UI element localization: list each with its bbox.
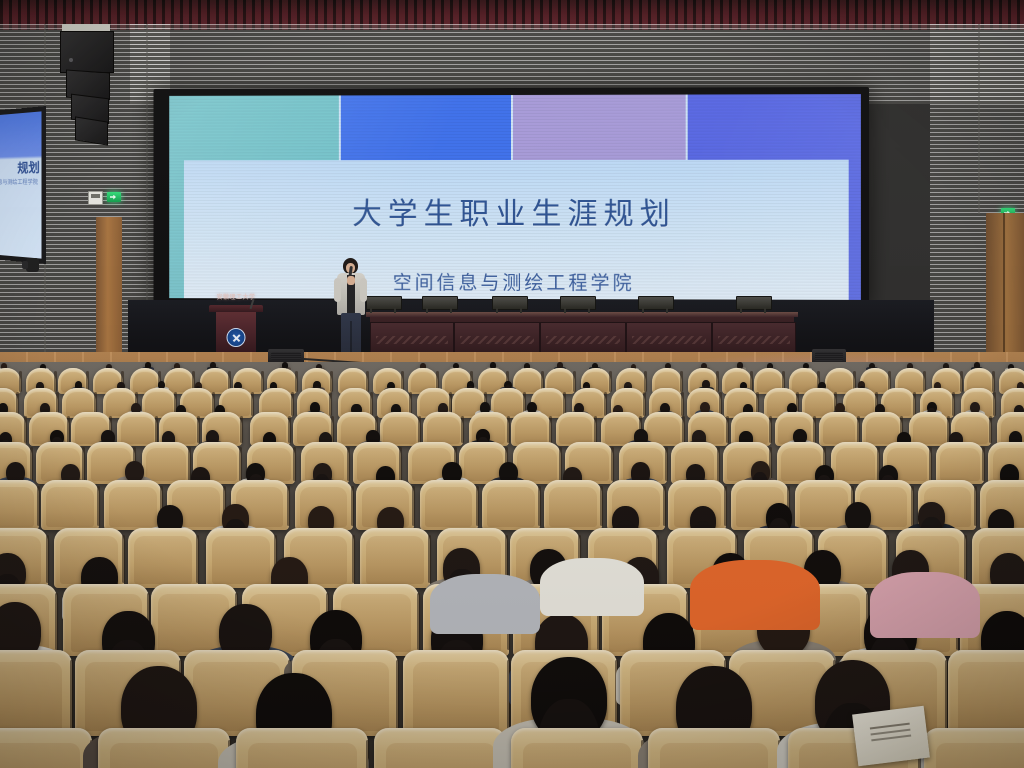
seat-divider [370, 392, 373, 416]
auditorium-seat[interactable] [206, 528, 276, 588]
auditorium-seat[interactable] [403, 650, 509, 736]
auditorium-seat[interactable] [98, 728, 230, 768]
auditorium-seat[interactable] [128, 528, 198, 588]
auditorium-seat[interactable] [909, 412, 949, 446]
side-display-screen: 规划 空间信息与测绘工程学院 [0, 106, 46, 264]
main-projection-screen: 大学生职业生涯规划 空间信息与测绘工程学院 2023年11月 [154, 87, 870, 307]
seat-divider [989, 416, 992, 443]
seat-divider [366, 371, 369, 392]
podium-top [209, 305, 263, 312]
seat-divider [97, 486, 100, 526]
auditorium-seat[interactable] [511, 412, 551, 446]
auditorium-seat[interactable] [511, 728, 643, 768]
seat-divider [663, 486, 666, 526]
seat-divider [600, 486, 603, 526]
table-panel [712, 322, 796, 356]
podium-name-plate: 安徽理工大学 [207, 292, 265, 304]
seat-divider [329, 392, 332, 416]
seat-divider [351, 486, 354, 526]
seat-divider [82, 447, 85, 481]
seat-divider [24, 416, 27, 443]
auditorium-seat[interactable] [41, 480, 99, 530]
seat-divider [197, 416, 200, 443]
exit-sign-icon [107, 192, 121, 202]
auditorium-seat[interactable] [0, 650, 72, 736]
seat-divider [240, 416, 243, 443]
seat-divider [929, 447, 932, 481]
projected-slide: 大学生职业生涯规划 空间信息与测绘工程学院 2023年11月 [169, 94, 861, 300]
seat-divider [476, 486, 479, 526]
table-panel [370, 322, 454, 356]
hanging-line-array-speaker [60, 24, 112, 142]
auditorium-seat[interactable] [924, 728, 1024, 768]
pink-shirt-person [870, 572, 980, 638]
seat-divider [974, 486, 977, 526]
seat-divider [291, 392, 294, 416]
seat-divider [196, 535, 199, 583]
seat-divider [993, 392, 996, 416]
seat-divider [644, 371, 647, 392]
university-emblem-icon [227, 328, 246, 347]
seat-divider [295, 371, 298, 392]
slide-content-card: 大学生职业生涯规划 空间信息与测绘工程学院 2023年11月 [184, 160, 848, 300]
seat-divider [923, 371, 926, 392]
auditorium-seat[interactable] [795, 480, 853, 530]
printed-document [852, 706, 930, 766]
seat-divider [54, 371, 57, 392]
speaker-bracket [62, 24, 110, 31]
speaker-cabinet [60, 31, 114, 73]
seat-divider [366, 740, 369, 768]
presenter-arm-right [360, 278, 367, 302]
stage-chair [492, 296, 526, 313]
orange-hoodie-person [690, 560, 820, 630]
seat-divider [604, 392, 607, 416]
table-panel [626, 322, 712, 356]
seat-divider [813, 416, 816, 443]
seat-divider [716, 371, 719, 392]
seat-divider [155, 416, 158, 443]
seat-divider [611, 447, 614, 481]
table-panel [540, 322, 626, 356]
presenter-arm-left [334, 278, 341, 302]
white-shirt-person [540, 558, 644, 616]
seat-divider [55, 593, 58, 651]
seat-divider [251, 392, 254, 416]
speaker-cabinet [75, 116, 108, 145]
side-screen-title: 规划 [17, 157, 39, 176]
seat-divider [287, 486, 290, 526]
seat-divider [594, 416, 597, 443]
auditorium-photo: 规划 空间信息与测绘工程学院 大学生职业生涯规划 空间信息与测绘工程学院 202… [0, 0, 1024, 768]
seat-divider [717, 447, 720, 481]
seat-divider [37, 486, 40, 526]
presenter [336, 258, 366, 362]
seat-divider [70, 660, 73, 729]
presenter-trousers [341, 313, 361, 355]
stage-chair [422, 296, 456, 313]
seat-divider [643, 392, 646, 416]
auditorium-seat[interactable] [556, 412, 596, 446]
seat-divider [680, 371, 683, 392]
seat-divider [30, 447, 33, 481]
seat-divider [330, 371, 333, 392]
seat-divider [992, 371, 995, 392]
seat-divider [507, 416, 510, 443]
seat-divider [952, 392, 955, 416]
presenter-hands [347, 276, 355, 285]
seat-divider [417, 593, 420, 651]
seat-divider [428, 535, 431, 583]
seat-divider [682, 416, 685, 443]
auditorium-seat[interactable] [544, 480, 602, 530]
seat-divider [609, 371, 612, 392]
seat-divider [681, 392, 684, 416]
right-side-door[interactable] [986, 213, 1024, 363]
stage-chair [736, 296, 770, 313]
seat-divider [913, 392, 916, 416]
auditorium-seat[interactable] [236, 728, 368, 768]
auditorium-seat[interactable] [423, 412, 463, 446]
stage-chair [560, 296, 594, 313]
seat-divider [19, 371, 22, 392]
seat-divider [347, 447, 350, 481]
auditorium-seat[interactable] [360, 528, 430, 588]
seat-divider [665, 447, 668, 481]
auditorium-seat[interactable] [948, 650, 1024, 736]
auditorium-seat[interactable] [936, 442, 984, 484]
seat-divider [573, 371, 576, 392]
seat-divider [396, 660, 399, 729]
auditorium-seat[interactable] [482, 480, 540, 530]
seat-divider [46, 535, 49, 583]
auditorium-seat[interactable] [104, 480, 162, 530]
seat-divider [719, 392, 722, 416]
auditorium-seat[interactable] [831, 442, 879, 484]
auditorium-seat[interactable] [0, 728, 92, 768]
seat-divider [67, 416, 70, 443]
seat-divider [261, 371, 264, 392]
auditorium-seat[interactable] [374, 728, 506, 768]
fire-alarm-icon [88, 191, 103, 205]
seat-divider [461, 416, 464, 443]
seat-divider [559, 447, 562, 481]
audience-seating-area [0, 362, 1024, 768]
seat-divider [857, 416, 860, 443]
seat-divider [288, 416, 291, 443]
seat-divider [538, 486, 541, 526]
auditorium-seat[interactable] [0, 480, 39, 530]
seat-divider [964, 535, 967, 583]
seat-divider [982, 447, 985, 481]
seat-divider [293, 447, 296, 481]
seat-divider [239, 447, 242, 481]
slide-title: 大学生职业生涯规划 [184, 189, 848, 233]
seat-divider [549, 416, 552, 443]
seat-divider [399, 447, 402, 481]
wall-seam [978, 24, 980, 214]
podium-body [216, 312, 256, 354]
auditorium-seat[interactable] [819, 412, 859, 446]
auditorium-seat[interactable] [420, 480, 478, 530]
seat-divider [769, 416, 772, 443]
seat-divider [122, 535, 125, 583]
seat-divider [352, 535, 355, 583]
seat-divider [911, 486, 914, 526]
stage-chair [638, 296, 672, 313]
seat-divider [418, 416, 421, 443]
seat-divider [412, 486, 415, 526]
camera-icon [26, 258, 39, 272]
seat-divider [886, 535, 889, 583]
seat-divider [724, 486, 727, 526]
stage-chair [366, 296, 400, 313]
side-screen-subtitle: 空间信息与测绘工程学院 [0, 177, 38, 186]
grey-shirt-person [430, 574, 540, 634]
table-panel [454, 322, 540, 356]
auditorium-seat[interactable] [117, 412, 157, 446]
seat-divider [960, 371, 963, 392]
auditorium-seat[interactable] [380, 412, 420, 446]
auditorium-seat[interactable] [648, 728, 780, 768]
slide-subtitle: 空间信息与测绘工程学院 [184, 268, 848, 296]
seat-divider [726, 416, 729, 443]
